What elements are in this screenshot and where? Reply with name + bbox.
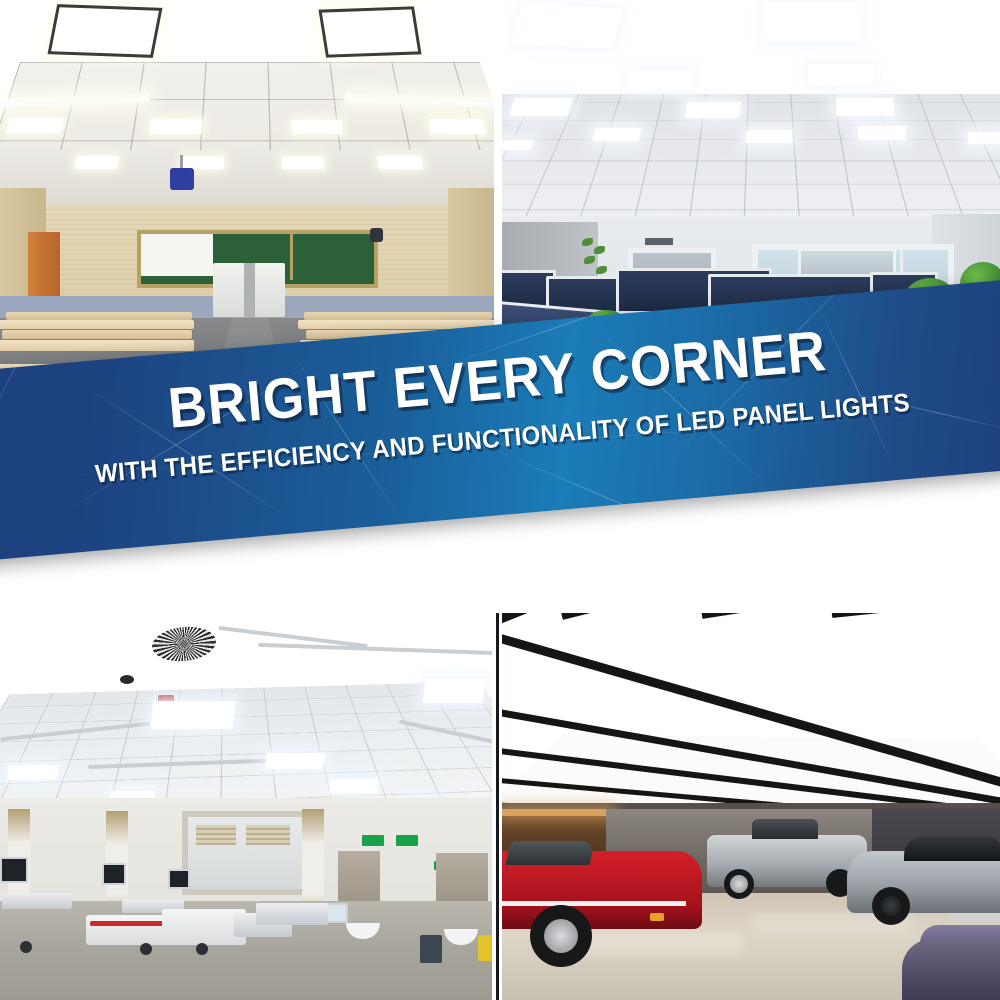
car-rim [730, 875, 748, 893]
led-panel [282, 157, 325, 169]
teacher-podium [213, 263, 285, 317]
led-panel [511, 3, 623, 48]
chalkboard-divider [290, 230, 293, 280]
waste-bin [420, 935, 442, 963]
exit-sign [396, 835, 418, 846]
led-panel [6, 118, 64, 133]
air-diffuser [150, 624, 217, 665]
patient-monitor [0, 857, 28, 883]
car-rim [881, 896, 901, 916]
led-panel [592, 128, 641, 141]
medical-cart [2, 893, 72, 909]
led-panel [48, 4, 163, 58]
led-panel [685, 102, 741, 118]
led-panel [75, 156, 120, 169]
bed-caster [140, 943, 152, 955]
car-windshield [904, 837, 1000, 861]
interior-window [182, 811, 310, 895]
exit-sign [645, 238, 673, 245]
poster-canvas: BRIGHT EVERY CORNER WITH THE EFFICIENCY … [0, 0, 1000, 1000]
led-panel [968, 132, 1000, 144]
car-windshield [505, 841, 594, 865]
led-panel [329, 779, 378, 793]
window-blind [196, 825, 236, 845]
led-panel [292, 120, 343, 134]
ceiling-frame-bar [561, 613, 1000, 620]
window-blind [246, 825, 290, 845]
curtain-track [258, 643, 494, 655]
led-panel [265, 753, 325, 769]
led-panel [761, 2, 863, 42]
ceiling-frame-bar [832, 613, 1000, 618]
whiteboard [141, 234, 213, 276]
led-panel [149, 119, 202, 134]
led-panel [502, 140, 534, 150]
bed-caster [20, 941, 32, 953]
led-panel [745, 130, 792, 143]
photo-hospital [0, 613, 494, 1000]
car-rim [544, 919, 578, 953]
led-panel [318, 6, 421, 57]
projector [170, 168, 194, 190]
led-panel [377, 156, 424, 169]
supply-table [256, 903, 328, 925]
patient-monitor [102, 863, 126, 885]
led-panel [626, 70, 694, 90]
cove-light [502, 809, 612, 816]
car-chrome-trim [502, 901, 686, 906]
exit-sign [362, 835, 384, 846]
led-panel [509, 98, 573, 116]
led-panel [428, 119, 485, 134]
led-panel [836, 98, 894, 116]
photo-garage [502, 613, 1000, 1000]
bed-caster [196, 943, 208, 955]
collage-divider-bottom [492, 613, 502, 1000]
car-windshield [752, 819, 818, 839]
smoke-detector [120, 675, 134, 684]
led-panel [151, 701, 236, 729]
patient-monitor [168, 869, 190, 889]
car-indicator-light [650, 913, 664, 921]
led-panel [808, 64, 875, 86]
led-panel [7, 765, 59, 780]
led-panel [858, 126, 906, 140]
led-panel [423, 679, 486, 703]
wall-speaker [370, 228, 383, 242]
purple-sofa [902, 939, 1000, 1000]
